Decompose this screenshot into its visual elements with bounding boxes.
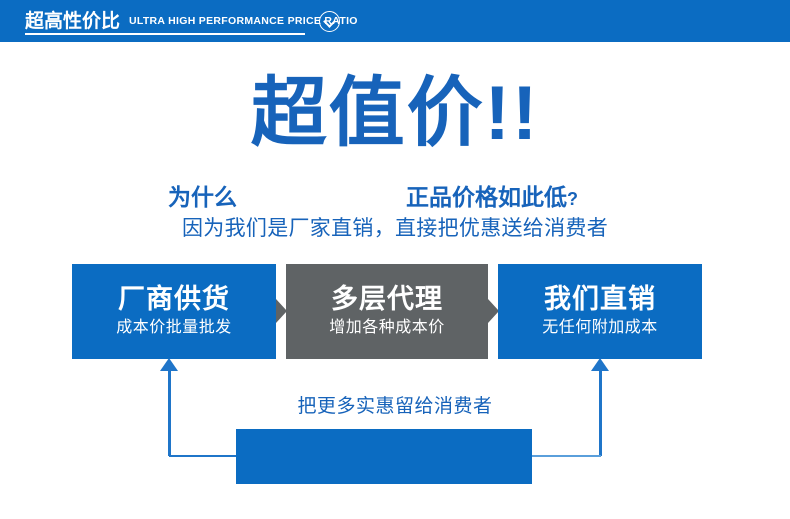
flow-step-title: 我们直销	[544, 284, 656, 315]
flow-step-subtitle: 无任何附加成本	[542, 318, 658, 339]
footer-note: 把更多实惠留给消费者	[0, 396, 790, 419]
question-mark: ?	[567, 189, 578, 209]
flow-step-supplier: 厂商供货 成本价批量批发	[72, 264, 276, 359]
question-answer: 因为我们是厂家直销，直接把优惠送给消费者	[0, 216, 790, 241]
flow-diagram: 厂商供货 成本价批量批发 多层代理 增加各种成本价 我们直销 无任何附加成本	[0, 264, 790, 359]
flow-step-subtitle: 成本价批量批发	[116, 318, 232, 339]
promo-banner: 超高性价比 ULTRA HIGH PERFORMANCE PRICE RATIO…	[0, 0, 790, 519]
header-underline	[25, 33, 305, 35]
flow-step-agents: 多层代理 增加各种成本价	[286, 264, 488, 359]
header-title-group: 超高性价比 ULTRA HIGH PERFORMANCE PRICE RATIO	[25, 0, 358, 42]
question-ask: 正品价格如此低?	[406, 184, 578, 210]
header-title-cn: 超高性价比	[25, 12, 120, 31]
question-row: 为什么 正品价格如此低?	[0, 184, 790, 212]
arrow-up-right-icon	[591, 358, 609, 371]
connector-line-left-horizontal	[169, 455, 239, 457]
connector-line-left-vertical	[168, 370, 171, 456]
arrow-up-left-icon	[160, 358, 178, 371]
hero-title: 超值价!!	[0, 76, 790, 152]
question-ask-text: 正品价格如此低	[406, 184, 567, 210]
chevron-down-circle-icon[interactable]	[319, 11, 340, 32]
footer-highlight-bar	[236, 429, 532, 484]
chevron-down-glyph	[323, 15, 336, 28]
connector-line-right-vertical	[599, 370, 602, 456]
flow-step-title: 厂商供货	[118, 284, 230, 315]
connector-line-right-horizontal	[530, 455, 601, 457]
flow-step-title: 多层代理	[331, 284, 443, 315]
flow-step-direct-sales: 我们直销 无任何附加成本	[498, 264, 702, 359]
section-header-bar: 超高性价比 ULTRA HIGH PERFORMANCE PRICE RATIO	[0, 0, 790, 42]
question-why: 为什么	[168, 184, 237, 210]
flow-step-subtitle: 增加各种成本价	[329, 318, 445, 339]
